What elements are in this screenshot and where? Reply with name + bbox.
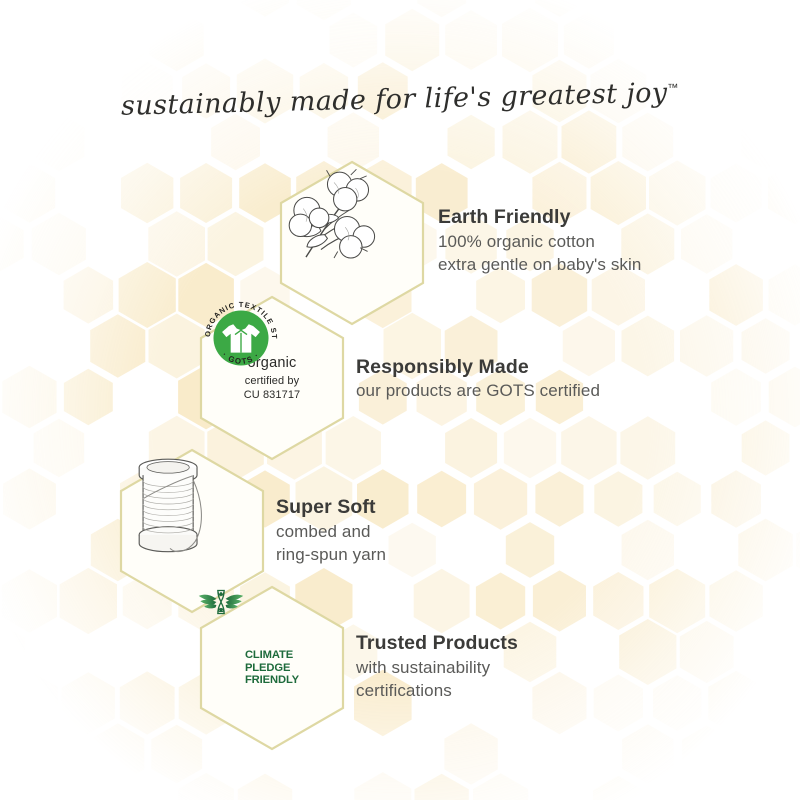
feature-text-earth-friendly: Earth Friendly 100% organic cotton extra… bbox=[438, 205, 641, 276]
feature-desc-line: 100% organic cotton bbox=[438, 231, 641, 254]
feature-desc-line: combed and bbox=[276, 521, 386, 544]
feature-desc-line: ring-spun yarn bbox=[276, 544, 386, 567]
climate-pledge-friendly-icon: CLIMATE PLEDGE FRIENDLY bbox=[245, 649, 299, 687]
feature-title: Earth Friendly bbox=[438, 205, 641, 231]
trademark-symbol: ™ bbox=[667, 82, 678, 94]
feature-responsibly-made: GLOBAL ORGANIC TEXTILE STANDARD · GOTS ·… bbox=[198, 295, 600, 461]
feature-trusted-products: CLIMATE PLEDGE FRIENDLY bbox=[198, 585, 518, 751]
feature-text-responsibly-made: Responsibly Made our products are GOTS c… bbox=[356, 355, 600, 404]
feature-title: Responsibly Made bbox=[356, 355, 600, 381]
feature-desc-line: our products are GOTS certified bbox=[356, 380, 600, 403]
feature-title: Super Soft bbox=[276, 495, 386, 521]
feature-text-super-soft: Super Soft combed and ring-spun yarn bbox=[276, 495, 386, 566]
climate-pledge-line1: CLIMATE bbox=[245, 649, 299, 662]
gots-certifier-code: CU 831717 bbox=[244, 388, 301, 402]
climate-pledge-line2: PLEDGE bbox=[245, 662, 299, 675]
cotton-branch-icon bbox=[278, 160, 390, 272]
feature-title: Trusted Products bbox=[356, 631, 518, 657]
feature-text-trusted-products: Trusted Products with sustainability cer… bbox=[356, 631, 518, 702]
feature-desc-line: with sustainability bbox=[356, 657, 518, 680]
gots-certification-icon: GLOBAL ORGANIC TEXTILE STANDARD · GOTS ·… bbox=[244, 350, 301, 402]
headline-text: sustainably made for life's greatest joy… bbox=[121, 77, 679, 122]
winged-hourglass-icon bbox=[198, 585, 244, 619]
climate-pledge-line3: FRIENDLY bbox=[245, 674, 299, 687]
thread-spool-icon bbox=[118, 448, 224, 560]
hexagon-badge-climate-pledge: CLIMATE PLEDGE FRIENDLY bbox=[198, 585, 346, 751]
headline-banner: sustainably made for life's greatest joy… bbox=[0, 84, 800, 115]
feature-desc-line: certifications bbox=[356, 680, 518, 703]
feature-desc-line: extra gentle on baby's skin bbox=[438, 254, 641, 277]
hexagon-badge-gots: GLOBAL ORGANIC TEXTILE STANDARD · GOTS ·… bbox=[198, 295, 346, 461]
